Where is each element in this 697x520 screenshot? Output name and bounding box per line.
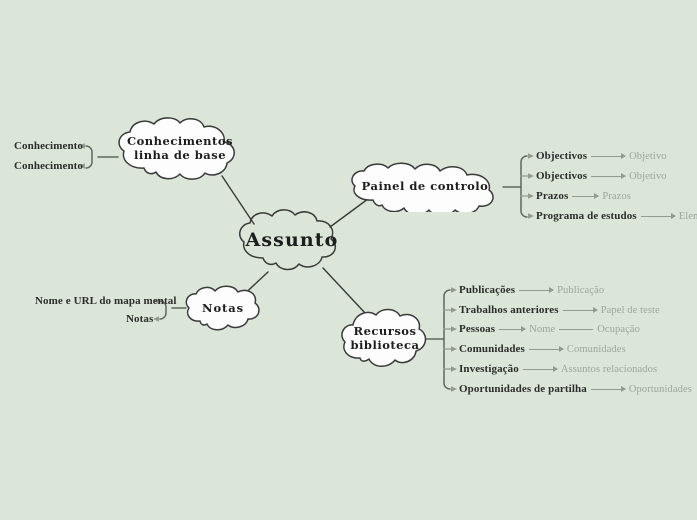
leaf-tertiary-label: Ocupação <box>597 322 640 337</box>
leaf-primary-label: Comunidades <box>459 342 525 357</box>
leaf-secondary-label: Papel de teste <box>601 303 660 318</box>
leaf-controlpanel-0[interactable]: Objectivos Objetivo <box>536 149 667 164</box>
leaf-primary-label: Oportunidades de partilha <box>459 382 587 397</box>
leaf-primary-label: Publicações <box>459 283 515 298</box>
leaf-arrow-icon <box>591 172 625 181</box>
leaf-arrow-icon <box>523 365 557 374</box>
leaf-primary-label: Investigação <box>459 362 519 377</box>
leaf-primary-label: Conhecimento <box>14 159 83 174</box>
leaf-primary-label: Notas <box>126 312 153 327</box>
leaf-primary-label: Objectivos <box>536 169 587 184</box>
leaf-library-2[interactable]: Pessoas Nome Ocupação <box>459 322 640 337</box>
leaf-notes-1[interactable]: Notas <box>126 312 153 327</box>
leaf-secondary-label: Objetivo <box>629 169 667 184</box>
leaf-arrow-icon <box>563 306 597 315</box>
edge-controlpanel-bracket <box>521 156 527 217</box>
leaf-secondary-label: Publicação <box>557 283 604 298</box>
node-notas-label: Notas <box>202 302 244 316</box>
controlpanel-arrowheads <box>528 153 534 219</box>
node-conhecimentos-linha-de-base[interactable]: Conhecimentos linha de base <box>114 116 246 182</box>
leaf-knowledge-1[interactable]: Conhecimento <box>14 159 83 174</box>
leaf-primary-label: Programa de estudos <box>536 209 637 224</box>
leaf-secondary-label: Objetivo <box>629 149 667 164</box>
library-arrowheads <box>451 287 457 392</box>
leaf-primary-label: Trabalhos anteriores <box>459 303 559 318</box>
leaf-library-0[interactable]: Publicações Publicação <box>459 283 604 298</box>
node-notas[interactable]: Notas <box>184 285 262 333</box>
leaf-knowledge-0[interactable]: Conhecimento <box>14 139 83 154</box>
leaf-library-5[interactable]: Oportunidades de partilha Oportunidades <box>459 382 692 397</box>
leaf-controlpanel-3[interactable]: Programa de estudos Elemento <box>536 209 697 224</box>
leaf-arrow-icon <box>591 152 625 161</box>
leaf-primary-label: Nome e URL do mapa mental <box>35 294 177 309</box>
node-central-label: Assunto <box>246 229 339 251</box>
leaf-secondary-label: Elemento <box>679 209 697 224</box>
leaf-library-3[interactable]: Comunidades Comunidades <box>459 342 626 357</box>
leaf-primary-label: Prazos <box>536 189 568 204</box>
leaf-library-1[interactable]: Trabalhos anteriores Papel de teste <box>459 303 660 318</box>
leaf-arrow-icon <box>519 286 553 295</box>
leaf-connector-icon <box>559 325 593 334</box>
leaf-arrow-icon <box>499 325 525 334</box>
leaf-library-4[interactable]: Investigação Assuntos relacionados <box>459 362 657 377</box>
leaf-secondary-label: Oportunidades <box>629 382 692 397</box>
leaf-primary-label: Conhecimento <box>14 139 83 154</box>
node-painel-label: Painel de controlo <box>362 180 489 194</box>
node-conhecimentos-label: Conhecimentos linha de base <box>127 135 233 162</box>
node-central-assunto[interactable]: Assunto <box>236 208 348 272</box>
edge-library-bracket <box>444 290 450 389</box>
node-recursos-biblioteca[interactable]: Recursos biblioteca <box>340 305 430 373</box>
leaf-notes-0[interactable]: Nome e URL do mapa mental <box>35 294 177 309</box>
leaf-secondary-label: Comunidades <box>567 342 626 357</box>
leaf-primary-label: Objectivos <box>536 149 587 164</box>
leaf-secondary-label: Nome <box>529 322 555 337</box>
leaf-arrow-icon <box>529 345 563 354</box>
leaf-primary-label: Pessoas <box>459 322 495 337</box>
edge-knowledge-bracket <box>86 146 92 168</box>
leaf-arrow-icon <box>641 212 675 221</box>
leaf-controlpanel-2[interactable]: Prazos Prazos <box>536 189 631 204</box>
leaf-secondary-label: Prazos <box>602 189 631 204</box>
leaf-arrow-icon <box>572 192 598 201</box>
leaf-secondary-label: Assuntos relacionados <box>561 362 657 377</box>
connector-edges <box>0 0 697 520</box>
leaf-arrow-icon <box>591 385 625 394</box>
node-recursos-label: Recursos biblioteca <box>351 325 420 352</box>
leaf-controlpanel-1[interactable]: Objectivos Objetivo <box>536 169 667 184</box>
mind-map-canvas: Assunto Conhecimentos linha de base Conh… <box>0 0 697 520</box>
node-painel-de-controlo[interactable]: Painel de controlo <box>345 162 505 212</box>
